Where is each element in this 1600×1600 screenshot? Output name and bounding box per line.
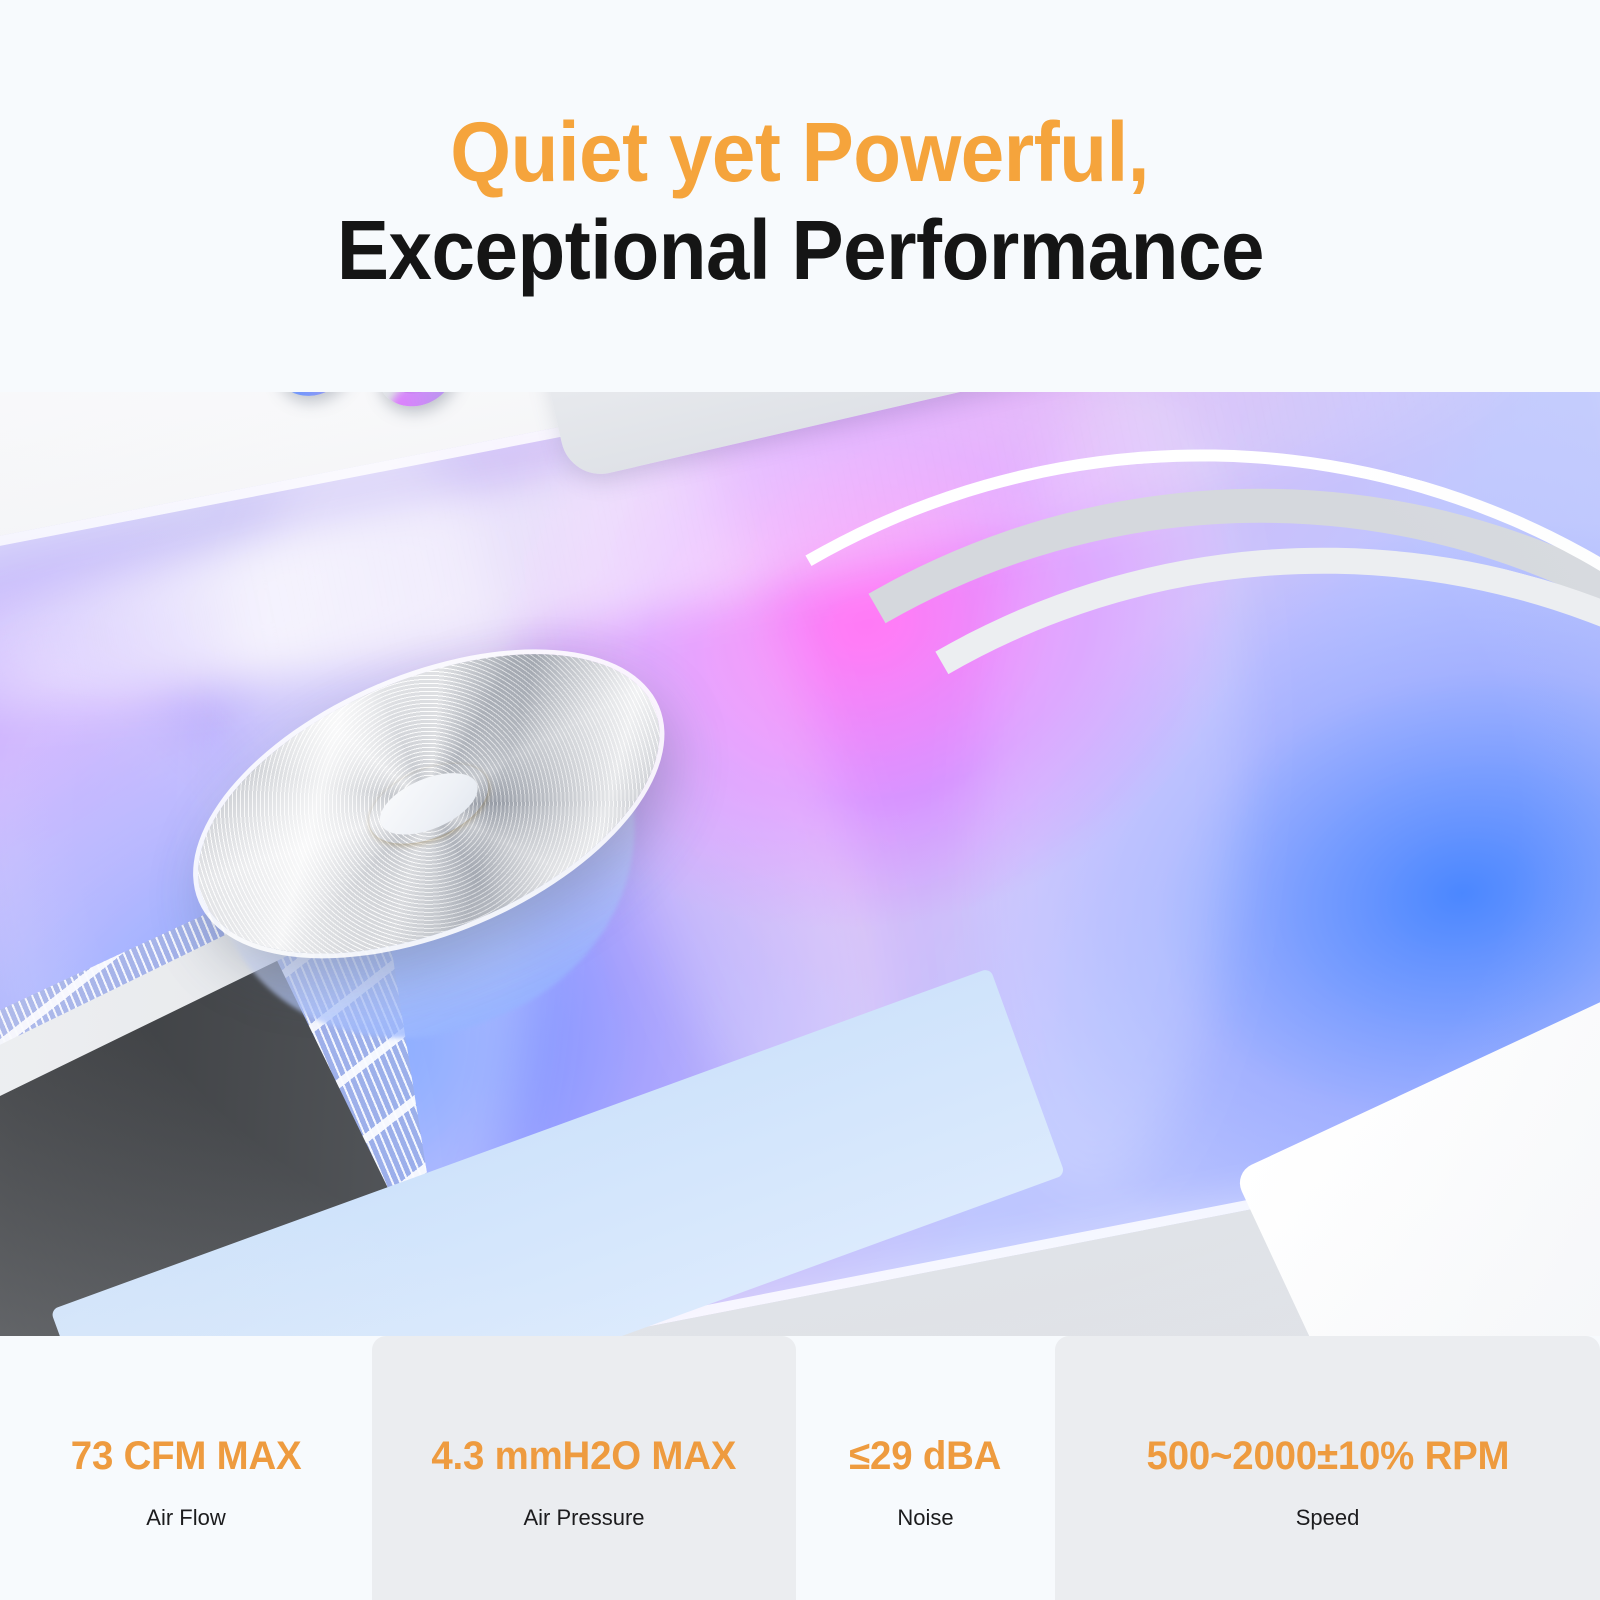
- mounting-screw-icon: [267, 392, 359, 407]
- spec-stats-bar: 73 CFM MAX Air Flow 4.3 mmH2O MAX Air Pr…: [0, 1336, 1600, 1600]
- screw-rgb-reflection: [284, 392, 359, 407]
- stat-value: 73 CFM MAX: [71, 1434, 302, 1479]
- stat-air-flow: 73 CFM MAX Air Flow: [0, 1336, 372, 1600]
- stat-label: Noise: [897, 1505, 953, 1531]
- stat-value: 4.3 mmH2O MAX: [432, 1434, 737, 1479]
- stat-label: Air Pressure: [523, 1505, 644, 1531]
- stat-speed: 500~2000±10% RPM Speed: [1055, 1336, 1600, 1600]
- stat-label: Speed: [1296, 1505, 1360, 1531]
- product-feature-page: Quiet yet Powerful, Exceptional Performa…: [0, 0, 1600, 1600]
- stat-value: 500~2000±10% RPM: [1146, 1434, 1509, 1479]
- mounting-screw-icon: [367, 392, 465, 418]
- stat-noise: ≤29 dBA Noise: [796, 1336, 1055, 1600]
- radiator-body: [0, 392, 1600, 1336]
- product-photo: [0, 392, 1600, 1336]
- headline-secondary: Exceptional Performance: [336, 203, 1263, 297]
- stat-label: Air Flow: [146, 1505, 225, 1531]
- headline-primary: Quiet yet Powerful,: [451, 109, 1150, 196]
- stat-value: ≤29 dBA: [849, 1434, 1001, 1479]
- stat-air-pressure: 4.3 mmH2O MAX Air Pressure: [372, 1336, 796, 1600]
- screw-rgb-reflection: [386, 392, 465, 418]
- headline-section: Quiet yet Powerful, Exceptional Performa…: [0, 0, 1600, 392]
